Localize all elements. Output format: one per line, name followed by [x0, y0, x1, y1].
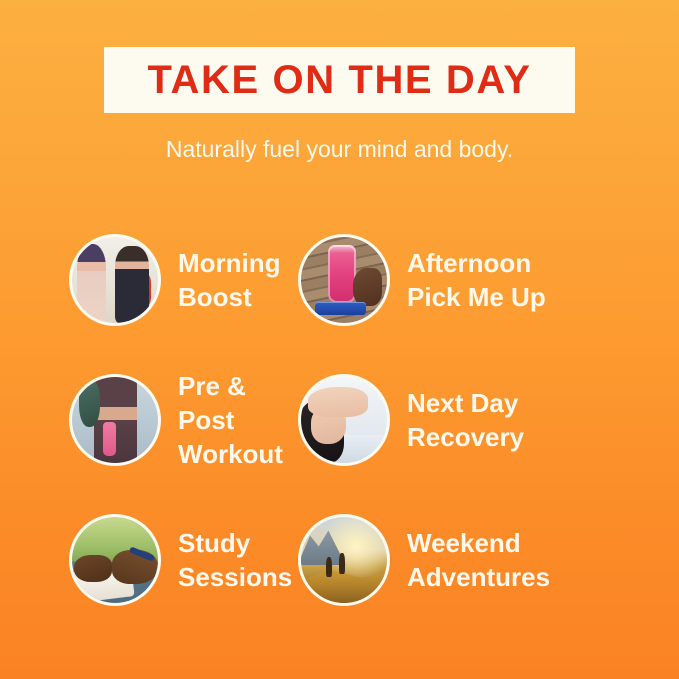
water-bottle-shape — [103, 422, 116, 456]
benefit-photo-frame — [298, 374, 390, 466]
woman-with-yoga-mat-and-bottle-photo — [72, 377, 158, 463]
benefits-row: Study Sessions Weekend Adventures — [0, 490, 679, 630]
benefit-photo-frame — [69, 374, 161, 466]
yoga-mat-shape — [79, 380, 100, 426]
benefits-row: Pre & Post Workout Next Day Recovery — [0, 350, 679, 490]
benefit-tile-morning-boost: Morning Boost — [0, 234, 290, 326]
drink-glass-shape — [328, 245, 356, 303]
subtitle: Naturally fuel your mind and body. — [0, 136, 679, 164]
hikers-on-mountain-ridge-photo — [301, 517, 387, 603]
hand-shape — [353, 268, 382, 306]
backpack-shape — [129, 273, 151, 309]
benefit-tile-afternoon-pick-me-up: Afternoon Pick Me Up — [290, 234, 679, 326]
benefit-tile-weekend-adventures: Weekend Adventures — [290, 514, 679, 606]
benefit-photo-frame — [69, 514, 161, 606]
drink-packet-shape — [315, 302, 367, 315]
hands-writing-in-notebook-photo — [72, 517, 158, 603]
woman-shape — [94, 377, 137, 463]
promotional-poster: TAKE ON THE DAY Naturally fuel your mind… — [0, 0, 679, 679]
benefit-tile-pre-and-post-workout: Pre & Post Workout — [0, 369, 290, 471]
benefit-photo-frame — [69, 234, 161, 326]
benefit-label: Morning Boost — [178, 246, 281, 314]
hiker-shape — [326, 557, 332, 578]
benefits-grid: Morning Boost Afternoon Pick Me Up — [0, 210, 679, 630]
benefit-photo-frame — [298, 514, 390, 606]
benefit-label: Study Sessions — [178, 526, 292, 594]
benefit-photo-frame — [298, 234, 390, 326]
woman-resting-in-bed-photo — [301, 377, 387, 463]
benefit-tile-study-sessions: Study Sessions — [0, 514, 290, 606]
benefit-tile-next-day-recovery: Next Day Recovery — [290, 374, 679, 466]
hand-holding-pink-drink-photo — [301, 237, 387, 323]
arm-shape — [308, 387, 368, 416]
benefit-label: Next Day Recovery — [407, 386, 524, 454]
hand-shape — [74, 555, 112, 583]
benefit-label: Pre & Post Workout — [178, 369, 290, 471]
benefit-label: Afternoon Pick Me Up — [407, 246, 546, 314]
mother-and-child-with-backpack-photo — [72, 237, 158, 323]
page-title: TAKE ON THE DAY — [147, 60, 531, 100]
benefit-label: Weekend Adventures — [407, 526, 550, 594]
title-banner: TAKE ON THE DAY — [104, 47, 575, 113]
benefits-row: Morning Boost Afternoon Pick Me Up — [0, 210, 679, 350]
hiker-shape — [339, 553, 345, 574]
